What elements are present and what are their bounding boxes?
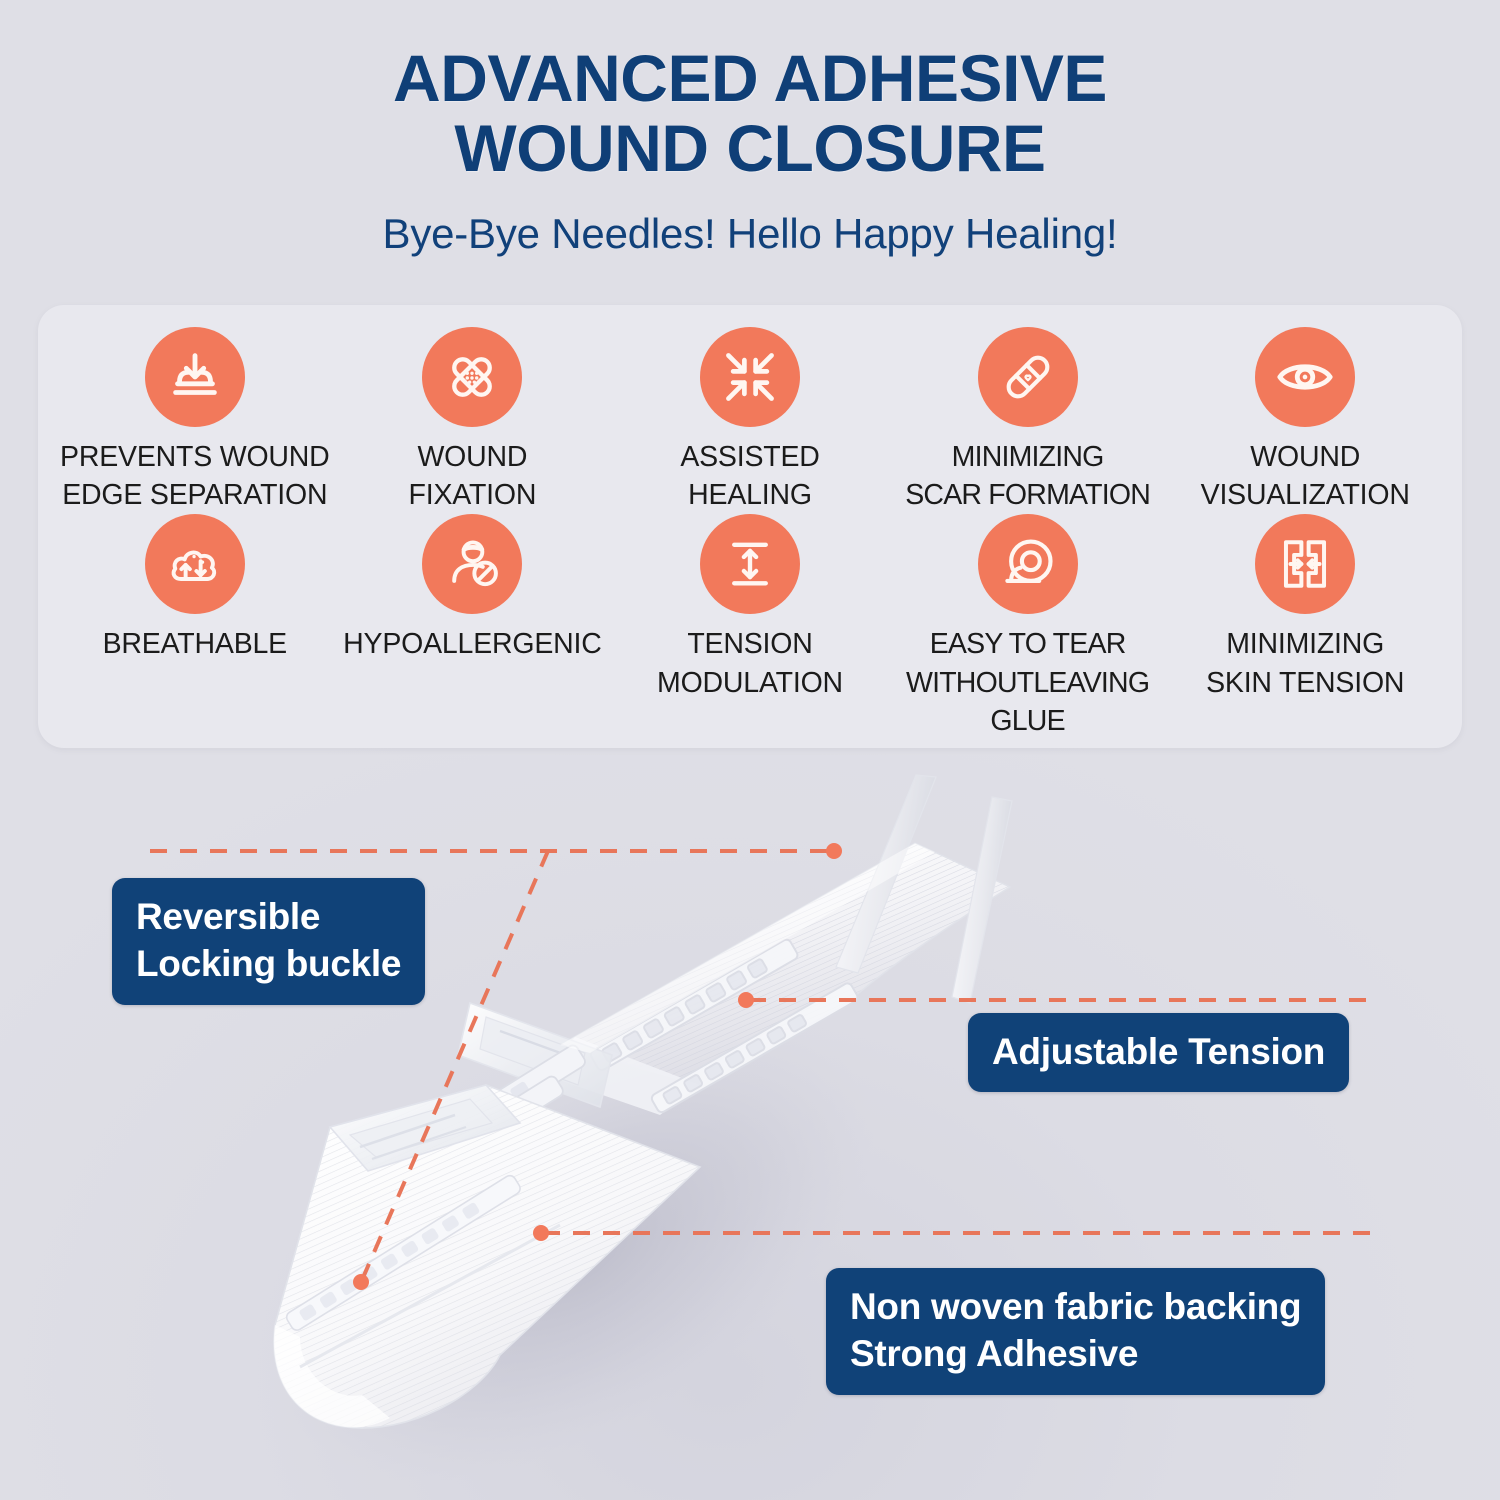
feature-label: WOUND FIXATION (409, 438, 537, 514)
feature-breathable: BREATHABLE (56, 514, 334, 740)
eye-icon (1255, 327, 1355, 427)
callout-non-woven-fabric-backing: Non woven fabric backing Strong Adhesive (826, 1268, 1325, 1395)
infographic-page: ADVANCED ADHESIVE WOUND CLOSURE Bye-Bye … (0, 0, 1500, 1500)
page-title: ADVANCED ADHESIVE WOUND CLOSURE (0, 44, 1500, 184)
feature-label: PREVENTS WOUND EDGE SEPARATION (60, 438, 330, 514)
feature-wound-visualization: WOUND VISUALIZATION (1166, 327, 1444, 514)
callout-adjustable-tension: Adjustable Tension (968, 1013, 1349, 1092)
feature-easy-to-tear: EASY TO TEAR WITHOUTLEAVING GLUE (889, 514, 1167, 740)
feature-label: EASY TO TEAR WITHOUTLEAVING GLUE (889, 625, 1167, 740)
feature-label: BREATHABLE (103, 625, 287, 663)
feature-minimizing-scar-formation: MINIMIZING SCAR FORMATION (889, 327, 1167, 514)
feature-label: TENSION MODULATION (657, 625, 843, 701)
feature-label: HYPOALLERGENIC (343, 625, 602, 663)
page-subtitle: Bye-Bye Needles! Hello Happy Healing! (0, 210, 1500, 258)
feature-minimizing-skin-tension: MINIMIZING SKIN TENSION (1166, 514, 1444, 740)
feature-label: MINIMIZING SCAR FORMATION (905, 438, 1150, 514)
press-down-layers-icon (145, 327, 245, 427)
converging-arrows-icon (700, 327, 800, 427)
bandage-heart-icon (978, 327, 1078, 427)
person-no-allergy-icon (422, 514, 522, 614)
features-grid: PREVENTS WOUND EDGE SEPARATION (38, 305, 1462, 748)
breathable-cloud-icon (145, 514, 245, 614)
tape-roll-icon (978, 514, 1078, 614)
header: ADVANCED ADHESIVE WOUND CLOSURE Bye-Bye … (0, 44, 1500, 258)
features-panel: PREVENTS WOUND EDGE SEPARATION (38, 305, 1462, 748)
feature-wound-fixation: WOUND FIXATION (334, 327, 612, 514)
feature-prevents-wound-edge-separation: PREVENTS WOUND EDGE SEPARATION (56, 327, 334, 514)
feature-label: ASSISTED HEALING (680, 438, 819, 514)
feature-hypoallergenic: HYPOALLERGENIC (334, 514, 612, 740)
feature-assisted-healing: ASSISTED HEALING (611, 327, 889, 514)
feature-label: WOUND VISUALIZATION (1201, 438, 1410, 514)
skin-tension-panels-icon (1255, 514, 1355, 614)
feature-label: MINIMIZING SKIN TENSION (1206, 625, 1404, 701)
vertical-tension-icon (700, 514, 800, 614)
callout-reversible-locking-buckle: Reversible Locking buckle (112, 878, 425, 1005)
crossed-bandage-icon (422, 327, 522, 427)
feature-tension-modulation: TENSION MODULATION (611, 514, 889, 740)
